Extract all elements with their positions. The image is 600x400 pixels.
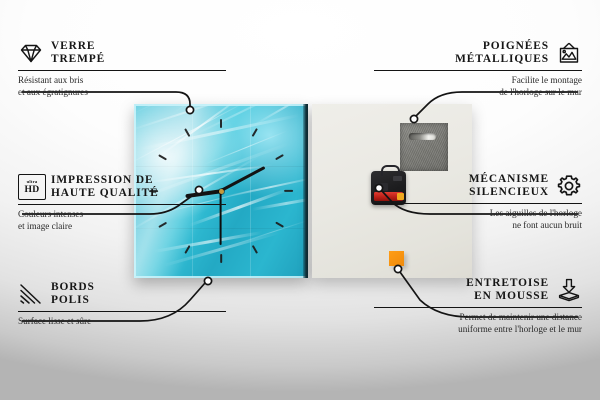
feature-bords-polis: BORDSPOLIS Surface lisse et sûre — [18, 281, 226, 328]
feature-header: BORDSPOLIS — [18, 281, 226, 308]
feature-header: ENTRETOISEEN MOUSSE — [374, 277, 582, 304]
ultra-hd-icon-main-label: HD — [25, 185, 40, 195]
hanger-keyhole-slot — [409, 133, 436, 140]
feature-title: VERRETREMPÉ — [51, 40, 105, 67]
feature-entretoise-en-mousse: ENTRETOISEEN MOUSSE Permet de maintenir … — [374, 277, 582, 335]
metal-hanger-plate — [400, 123, 448, 171]
feature-description: Résistant aux briset aux égratignures — [18, 75, 226, 98]
gear-icon — [556, 173, 582, 199]
feature-mecanisme-silencieux: MÉCANISMESILENCIEUX Les aiguilles de l'h… — [374, 173, 582, 231]
feature-description: Facilite le montagede l'horloge sur le m… — [374, 75, 582, 98]
feature-header: POIGNÉESMÉTALLIQUES — [374, 40, 582, 67]
arrow-onto-pad-icon — [556, 277, 582, 303]
feature-header: VERRETREMPÉ — [18, 40, 226, 67]
feature-title: POIGNÉESMÉTALLIQUES — [455, 40, 549, 67]
feature-verre-trempe: VERRETREMPÉ Résistant aux briset aux égr… — [18, 40, 226, 98]
feature-impression-haute-qualite: ultra HD IMPRESSION DEHAUTE QUALITÉ Coul… — [18, 174, 226, 232]
panel-side-edge — [303, 104, 308, 278]
feature-title: IMPRESSION DEHAUTE QUALITÉ — [51, 174, 159, 201]
feature-header: ultra HD IMPRESSION DEHAUTE QUALITÉ — [18, 174, 226, 201]
foam-spacer — [389, 251, 404, 266]
feature-description: Couleurs intenseset image claire — [18, 209, 226, 232]
polished-edge-lines-icon — [18, 281, 44, 307]
feature-rule — [374, 307, 582, 309]
feature-rule — [18, 204, 226, 206]
feature-rule — [374, 70, 582, 72]
feature-description: Les aiguilles de l'horlogene font aucun … — [374, 208, 582, 231]
feature-description: Surface lisse et sûre — [18, 316, 226, 327]
feature-header: MÉCANISMESILENCIEUX — [374, 173, 582, 200]
ultra-hd-icon: ultra HD — [18, 174, 44, 200]
feature-poignees-metalliques: POIGNÉESMÉTALLIQUES Facilite le montaged… — [374, 40, 582, 98]
feature-rule — [18, 70, 226, 72]
feature-title: BORDSPOLIS — [51, 281, 95, 308]
hanging-frame-icon — [556, 40, 582, 66]
diamond-icon — [18, 40, 44, 66]
feature-rule — [18, 311, 226, 313]
infographic-canvas: VERRETREMPÉ Résistant aux briset aux égr… — [0, 0, 600, 400]
feature-rule — [374, 203, 582, 205]
feature-title: ENTRETOISEEN MOUSSE — [466, 277, 549, 304]
feature-title: MÉCANISMESILENCIEUX — [469, 173, 549, 200]
feature-description: Permet de maintenir une distanceuniforme… — [374, 312, 582, 335]
